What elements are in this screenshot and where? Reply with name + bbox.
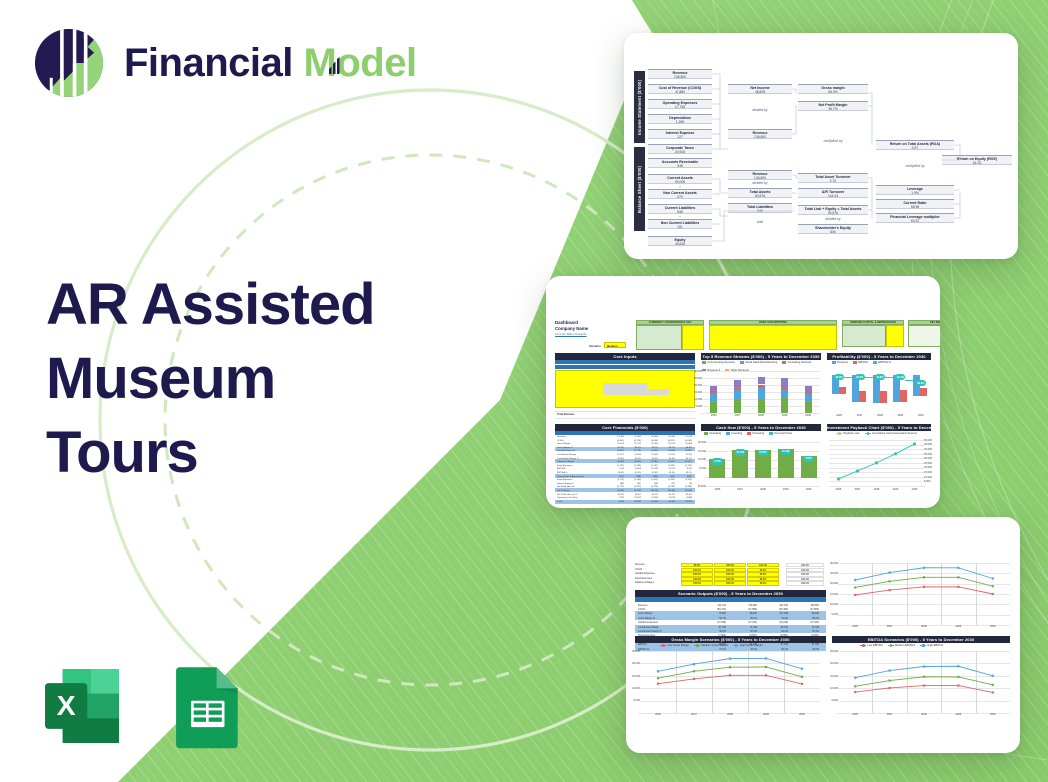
table-cell: (9,054) — [642, 440, 658, 442]
legend-label: Cumulative Cash Generated (Source) — [872, 432, 917, 435]
assumption-cell[interactable]: 95.0% — [747, 581, 779, 585]
y-tick-label: 35,000 — [924, 453, 937, 456]
scenario-row-cell: 136,800 — [729, 604, 757, 607]
table-cell: (6,576) — [642, 490, 658, 492]
table-cell: (1,351) — [659, 479, 675, 481]
scenario-label: Scenario — [589, 344, 601, 348]
ebitda-pct-bubble: 42.3% — [855, 374, 865, 380]
brand-word-model: Model — [304, 43, 417, 83]
axis-tick-label: 2027 — [729, 488, 752, 491]
y-tick-label: 25,000 — [825, 650, 838, 653]
table-row: Depreciation & Amortisation — [557, 476, 584, 478]
axis-tick-label: 2026 — [838, 713, 872, 716]
dupont-analysis-screenshot[interactable]: Income Statement ($'000) Balance Sheet (… — [624, 33, 1018, 259]
legend-item: AI Accounting Services — [702, 361, 735, 364]
cash-flow-bubble: 6,557 — [803, 456, 814, 463]
table-cell: 18,213 — [659, 443, 675, 445]
table-cell: 36.9% — [608, 472, 624, 474]
table-cell: 54.4% — [642, 458, 658, 460]
table-cell: (64) — [625, 483, 641, 485]
table-cell: 27,460 — [625, 436, 641, 438]
y-tick-label: 15,000 — [691, 391, 702, 394]
scenario-series-lines — [640, 651, 820, 713]
table-row: Net Profit after tax — [557, 486, 575, 488]
legend-item: EBITDA % — [873, 361, 891, 364]
scenario-row-cell: 58.7% — [698, 617, 726, 620]
table-row: Gross Margin % — [557, 447, 573, 449]
table-row: Fixed Expenses — [557, 479, 573, 481]
legend-label: Payback year — [843, 432, 859, 435]
scenario-row-cell: 136,800 — [791, 604, 819, 607]
bar-segment — [710, 402, 717, 413]
axis-tick-label: 2026 — [640, 713, 676, 716]
brand-word-financial: Financial — [124, 41, 293, 85]
ebitda-pct-bubble: 42.3% — [895, 374, 905, 380]
y-tick-label: - — [694, 476, 706, 479]
table-cell: 8,398 — [676, 497, 692, 499]
legend-swatch — [782, 361, 786, 363]
y-tick-label: 45,000 — [924, 443, 937, 446]
table-cell: 68.8% — [676, 447, 692, 449]
table-cell: 19,234 — [676, 501, 692, 503]
y-tick-label: 5,000 — [924, 480, 937, 483]
legend-item: Low EBITDA — [860, 644, 883, 647]
scenario-row-label: Contribution Margin % — [638, 630, 662, 633]
legend-item: Medium Gross Margin — [694, 644, 728, 647]
table-cell: 11,211 — [659, 468, 675, 470]
table-row: Gross Margin — [557, 443, 570, 445]
legend-item: Net Cash Flow — [769, 432, 792, 435]
bar-segment — [758, 399, 765, 413]
axis-tick-label: 2026 — [838, 625, 872, 628]
axis-tick-label: 2030 — [784, 713, 820, 716]
core-inputs-header — [555, 360, 695, 364]
scenario-row-cell: 114,130 — [698, 604, 726, 607]
gross-margin-legend: Low Gross MarginMedium Gross MarginHigh … — [660, 644, 820, 647]
headline-line-1: AR Assisted — [46, 268, 466, 342]
table-cell: 7,302 — [608, 497, 624, 499]
gross-margin-xaxis: 20262027202820292030 — [640, 713, 820, 719]
revenue-streams-plot: -5,00010,00015,00020,00025,00030,000 — [702, 371, 820, 413]
table-cell: 68.2% — [642, 447, 658, 449]
ebitda-bar — [859, 391, 866, 403]
table-row: Interest Expense — [557, 483, 573, 485]
bar-segment — [758, 377, 765, 385]
table-cell: (991) — [676, 476, 692, 478]
table-cell: 18,732 — [625, 443, 641, 445]
legend-swatch — [865, 433, 871, 434]
table-cell: 10,812 — [625, 497, 641, 499]
bar-segment — [805, 386, 812, 392]
table-cell: (6,066) — [659, 490, 675, 492]
table-cell: 39.6% — [625, 494, 641, 496]
working-capital-title: WORKING CAPITAL & DEPRECIATION — [842, 321, 904, 324]
legend-item: Cloud SaaS Manufacturing — [740, 361, 777, 364]
ebitda-plot: -5,00010,00015,00020,00025,000 — [838, 651, 1010, 713]
legend-swatch — [836, 433, 842, 434]
table-cell: (3,893) — [608, 490, 624, 492]
bar-segment — [758, 388, 765, 399]
wc-labels — [842, 325, 886, 347]
headline-line-2: Museum — [46, 342, 466, 416]
table-cell: (2,283) — [676, 486, 692, 488]
table-cell: (48) — [642, 483, 658, 485]
microsoft-excel-icon[interactable]: X — [38, 662, 126, 750]
dashboard-subtitle: Company Name — [555, 326, 588, 331]
file-format-icons: X — [38, 662, 250, 750]
table-cell: 19,160 — [642, 501, 658, 503]
table-cell: (211) — [608, 476, 624, 478]
y-tick-label: - — [627, 712, 640, 715]
legend-label: High EBITDA — [927, 644, 943, 647]
scenario-row-cell: 70.2% — [760, 617, 788, 620]
scenario-row-cell: 54.2% — [760, 630, 788, 633]
bar-segment — [710, 394, 717, 401]
table-cell: (3,212) — [625, 486, 641, 488]
table-cell: 28,480 — [642, 436, 658, 438]
table-cell: 19,365 — [608, 436, 624, 438]
table-cell: (3,778) — [625, 450, 641, 452]
y-tick-label: 5,000 — [691, 405, 702, 408]
table-cell: (8,728) — [625, 440, 641, 442]
profitability-plot: 36.9%42.3%42.8%42.3%39.2% — [829, 370, 931, 413]
axis-tick-label: 2029 — [941, 713, 975, 716]
table-cell: (927) — [659, 476, 675, 478]
profitability-legend: RevenueEBITDAEBITDA % — [832, 361, 936, 364]
y-tick-label: 15,000 — [627, 675, 640, 678]
table-cell: 8,568 — [608, 501, 624, 503]
key-metrics-title: KEY METRICS — [908, 321, 940, 324]
axis-tick-label: 2027 — [676, 713, 712, 716]
table-cell: 18,292 — [625, 501, 641, 503]
ebitda-bar — [900, 390, 907, 401]
axis-tick-label: 2027 — [726, 414, 750, 417]
legend-swatch — [832, 361, 836, 363]
legend-label: Medium Gross Margin — [701, 644, 727, 647]
table-cell: (4,508) — [676, 490, 692, 492]
table-row: Cash — [557, 501, 562, 503]
financial-dashboard-screenshot[interactable]: Dashboard Company Name Go to the Table o… — [546, 276, 940, 508]
bar-segment — [734, 400, 741, 413]
scenario-series-lines — [838, 651, 1010, 713]
payback-legend: Payback yearCumulative Cash Generated (S… — [836, 432, 932, 435]
y-tick-label: 10,000 — [924, 476, 937, 479]
ebitda-xaxis: 20262027202820292030 — [838, 713, 1010, 719]
cash-flow-bubble: 10,196 — [780, 449, 791, 456]
legend-label: Low Gross Margin — [667, 644, 689, 647]
legend-label: Cloud SaaS Manufacturing — [745, 361, 777, 364]
table-cell: 40.7% — [642, 494, 658, 496]
legend-item: High EBITDA — [920, 644, 943, 647]
legend-swatch — [733, 645, 739, 646]
profitability-xaxis: 20262027202820292030 — [829, 414, 931, 420]
brand-wordmark: Financial Model — [124, 43, 417, 83]
y-tick-label: 5,000 — [627, 699, 640, 702]
dupont-connectors — [624, 33, 1018, 259]
axis-tick-label: 2030 — [976, 625, 1010, 628]
ebitda-pct-bubble: 42.8% — [875, 374, 885, 380]
table-cell: 52.8% — [608, 458, 624, 460]
table-cell: 11,603 — [625, 468, 641, 470]
axis-tick-label: 2028 — [867, 488, 886, 491]
legend-label: Net Cash Flow — [774, 432, 792, 435]
table-row: Contribution Margin % — [557, 458, 579, 460]
table-row: COGS — [557, 440, 563, 442]
debt-panel-title: DEBT ASSUMPTIONS — [709, 321, 837, 324]
y-tick-label: 15,000 — [825, 675, 838, 678]
axis-tick-label: 2028 — [752, 488, 775, 491]
y-tick-label: 5,000 — [825, 699, 838, 702]
table-cell: (1,327) — [642, 465, 658, 467]
bar-segment — [734, 387, 741, 390]
table-row: Revenue — [557, 436, 566, 438]
table-cell: 39.2% — [676, 472, 692, 474]
scenario-row-cell: 65.0% — [729, 617, 757, 620]
y-tick-label: 20,000 — [825, 582, 838, 585]
bar-segment — [734, 380, 741, 387]
table-cell: (2,021) — [676, 461, 692, 463]
assumption-cell[interactable]: 105.0% — [681, 581, 713, 585]
table-cell: (1,197) — [608, 465, 624, 467]
y-tick-label: 20,000 — [924, 466, 937, 469]
y-tick-label: - — [825, 712, 838, 715]
y-tick-label: 20,000 — [691, 384, 702, 387]
table-cell: 42.3% — [659, 472, 675, 474]
table-cell: 10,221 — [608, 454, 624, 456]
table-cell: 21,228 — [676, 436, 692, 438]
axis-tick-label: 2029 — [890, 414, 910, 417]
bar-segment — [734, 390, 741, 400]
scenario-row-label: Revenue — [638, 604, 648, 607]
bar-segment — [781, 390, 788, 397]
debt-table[interactable] — [709, 325, 837, 350]
table-cell: (788) — [625, 476, 641, 478]
scenario-assumptions-table[interactable]: Revenue80.0%100.0%120.0%COGS105.0%100.0%… — [635, 563, 780, 588]
scenario-row-cell: 65.0% — [791, 617, 819, 620]
y-tick-label: 30,000 — [924, 457, 937, 460]
revenue-streams-xaxis: 20262027202820292030 — [702, 414, 820, 420]
dashboard-toc-link[interactable]: Go to the Table of Contents — [555, 333, 587, 336]
legend-label: Medium EBITDA — [895, 644, 915, 647]
revenue-scenarios-xaxis: 20262027202820292030 — [838, 625, 1010, 631]
dashboard-title: Dashboard — [555, 320, 578, 325]
table-cell: (2,802) — [608, 450, 624, 452]
google-sheets-icon[interactable] — [162, 662, 250, 750]
key-metrics-table — [908, 325, 940, 347]
scenario-row-label: Gross Margin % — [638, 617, 655, 620]
table-cell: 54.9% — [659, 458, 675, 460]
legend-swatch — [920, 645, 926, 646]
table-row: Salaries & Wages — [557, 461, 574, 463]
legend-swatch — [726, 432, 730, 434]
legend-item: Investing — [726, 432, 742, 435]
legend-swatch — [660, 645, 666, 646]
bar-segment — [781, 397, 788, 413]
headline-line-3: Tours — [46, 416, 466, 490]
scenario-outputs-header — [635, 597, 826, 602]
cash-flow-bubble: 10,707 — [758, 450, 769, 457]
bar-segment — [805, 394, 812, 401]
y-tick-label: 25,000 — [924, 462, 937, 465]
table-cell: 54.5% — [625, 458, 641, 460]
axis-tick-label: 2026 — [702, 414, 726, 417]
legend-label: High Gross Margin — [740, 644, 762, 647]
y-tick-label: 20,000 — [627, 662, 640, 665]
cash-flow-xaxis: 20262027202820292030 — [706, 488, 820, 494]
svg-text:X: X — [57, 690, 76, 721]
table-cell: (3,923) — [642, 450, 658, 452]
y-tick-label: 30,000 — [691, 370, 702, 373]
ebitda-bar — [920, 388, 927, 396]
currency-values[interactable] — [682, 325, 704, 350]
payback-line — [829, 440, 924, 486]
axis-tick-label: 2028 — [749, 414, 773, 417]
table-cell: (1,373) — [676, 479, 692, 481]
page-title: AR Assisted Museum Tours — [46, 268, 466, 491]
table-cell: 42.3% — [625, 472, 641, 474]
bar-segment — [710, 386, 717, 392]
assumption-label: Salaries & Wages — [635, 581, 654, 584]
assumption-label: Fixed Expenses — [635, 577, 652, 580]
legend-label: Operating — [709, 432, 721, 435]
legend-swatch — [769, 432, 773, 434]
scenario-row-cell: 52.4% — [791, 630, 819, 633]
table-cell: 35.6% — [676, 494, 692, 496]
table-cell: 68.2% — [625, 447, 641, 449]
table-cell: 12,195 — [642, 468, 658, 470]
axis-tick-label: 2030 — [796, 414, 820, 417]
table-row: Variable Expenses — [557, 450, 575, 452]
assumption-label: Variable Expenses — [635, 572, 655, 575]
table-cell: (27) — [659, 483, 675, 485]
table-cell: (2,061) — [625, 461, 641, 463]
legend-swatch — [694, 645, 700, 646]
axis-tick-label: 2030 — [797, 488, 820, 491]
core-inputs-blank-cells — [603, 383, 647, 395]
cash-flow-legend: OperatingInvestingFinancingNet Cash Flow — [704, 432, 822, 435]
axis-tick-label: 2029 — [774, 488, 797, 491]
financial-model-circle-logo — [32, 26, 106, 100]
core-inputs-blank-cells-2 — [647, 389, 669, 395]
legend-item: Operating — [704, 432, 721, 435]
legend-label: Investing — [731, 432, 742, 435]
gross-margin-chart-title: Gross Margin Scenarios ($'000) - 5 Years… — [635, 636, 826, 643]
table-cell: 42.8% — [642, 472, 658, 474]
ebitda-chart-title: EBITDA Scenarios ($'000) - 5 Years to De… — [832, 636, 1010, 643]
axis-tick-label: 2028 — [907, 625, 941, 628]
wc-values[interactable] — [886, 325, 904, 347]
legend-item: Cumulative Cash Generated (Source) — [865, 432, 917, 435]
y-tick-label: - — [924, 485, 937, 488]
table-cell: (1,290) — [625, 465, 641, 467]
axis-tick-label: 2030 — [911, 414, 931, 417]
ebitda-pct-bubble: 36.9% — [834, 374, 844, 380]
scenario-analysis-screenshot[interactable]: Revenue80.0%100.0%120.0%COGS105.0%100.0%… — [626, 517, 1020, 753]
y-tick-label: 30,000 — [825, 562, 838, 565]
bar-segment — [805, 392, 812, 395]
assumption-active-cell: 100.0% — [786, 581, 824, 585]
table-cell: 11,705 — [676, 454, 692, 456]
brand-logo: Financial Model — [32, 26, 417, 100]
legend-item: Low Gross Margin — [660, 644, 689, 647]
ebitda-bar — [880, 391, 887, 403]
y-tick-label: 20,000 — [825, 662, 838, 665]
table-cell: 8,311 — [676, 468, 692, 470]
table-cell: (1,981) — [642, 461, 658, 463]
table-cell: 10,694 — [642, 497, 658, 499]
y-tick-label: 10,000 — [691, 398, 702, 401]
table-cell: 26,530 — [659, 436, 675, 438]
legend-item: Medium EBITDA — [888, 644, 915, 647]
legend-swatch — [747, 432, 751, 434]
table-cell: 67.3% — [608, 447, 624, 449]
axis-tick-label: 2030 — [905, 488, 924, 491]
table-cell: (3,640) — [659, 450, 675, 452]
table-row: Net Profit after tax % — [557, 494, 577, 496]
y-tick-label: (5,000) — [694, 485, 706, 488]
legend-swatch — [853, 361, 857, 363]
table-cell: 40.7% — [659, 494, 675, 496]
legend-label: Financing — [752, 432, 764, 435]
table-cell: (6,342) — [608, 440, 624, 442]
ebitda-legend: Low EBITDAMedium EBITDAHigh EBITDA — [860, 644, 1010, 647]
bar-chart-in-o-icon — [328, 57, 341, 75]
core-inputs-subheader — [555, 365, 695, 369]
table-cell: (3,092) — [659, 486, 675, 488]
assumption-cell[interactable]: 100.0% — [714, 581, 746, 585]
table-cell: (1,290) — [625, 479, 641, 481]
table-cell: (2,891) — [676, 450, 692, 452]
scenario-active-column: 100.0%100.0%100.0%100.0%100.0% — [786, 563, 826, 588]
table-row: Fixed Expenses — [557, 465, 573, 467]
y-tick-label: 25,000 — [825, 572, 838, 575]
axis-tick-label: 2026 — [706, 488, 729, 491]
payback-plot: -5,00010,00015,00020,00025,00030,00035,0… — [829, 440, 924, 486]
table-cell: (1,351) — [659, 465, 675, 467]
payback-chart-title: Investment Payback Chart ($'000) - 5 Yea… — [827, 424, 931, 431]
revenue-streams-chart-title: Top 5 Revenue Streams ($'000) - 5 Years … — [701, 353, 821, 360]
table-row: Contribution Margin — [557, 454, 576, 456]
legend-label: Revenue — [837, 361, 848, 364]
axis-tick-label: 2029 — [773, 414, 797, 417]
legend-label: AI Accounting Services — [707, 361, 735, 364]
bar-segment — [805, 402, 812, 413]
table-row: EBITDA — [557, 468, 565, 470]
assumption-label: COGS — [635, 568, 642, 571]
bar-segment — [710, 392, 717, 395]
axis-tick-label: 2028 — [907, 713, 941, 716]
y-tick-label: 15,000 — [924, 471, 937, 474]
table-cell: 11,079 — [659, 497, 675, 499]
axis-tick-label: 2027 — [872, 713, 906, 716]
scenario-row-cell: 164,160 — [760, 604, 788, 607]
legend-swatch — [740, 361, 744, 363]
y-tick-label: 40,000 — [924, 448, 937, 451]
axis-tick-label: 2027 — [849, 414, 869, 417]
axis-tick-label: 2026 — [829, 488, 848, 491]
gross-margin-plot: -5,00010,00015,00020,00025,000 — [640, 651, 820, 713]
y-tick-label: 10,000 — [627, 687, 640, 690]
legend-item: Payback year — [836, 432, 860, 435]
legend-label: EBITDA — [858, 361, 868, 364]
table-row: Tax Provision — [557, 490, 570, 492]
y-tick-label: 25,000 — [627, 650, 640, 653]
table-cell: 14,596 — [676, 443, 692, 445]
axis-tick-label: 2028 — [870, 414, 890, 417]
table-cell: (8,317) — [659, 440, 675, 442]
ebitda-pct-bubble: 39.2% — [916, 380, 926, 386]
table-cell: 68.7% — [659, 447, 675, 449]
